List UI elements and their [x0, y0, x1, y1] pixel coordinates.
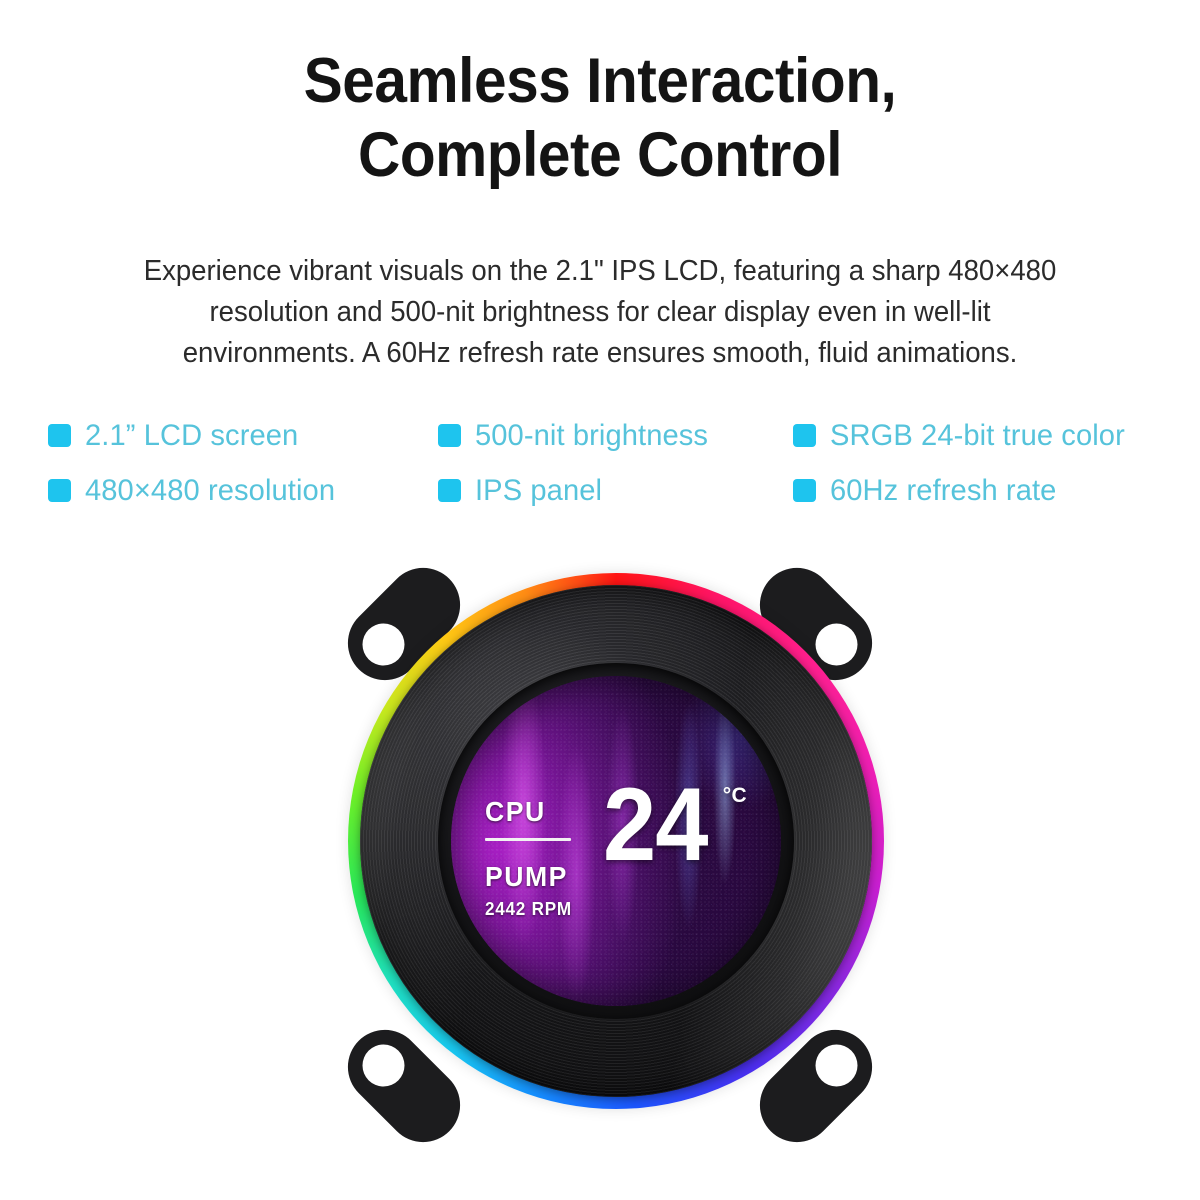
pump-body-disc: CPU PUMP 2442 RPM 24 °C	[360, 585, 872, 1097]
feature-label: IPS panel	[475, 474, 602, 508]
lcd-temperature-value: 24	[603, 780, 708, 872]
lcd-temperature-readout: 24 °C	[603, 780, 747, 872]
feature-spec-list: 2.1” LCD screen 500-nit brightness SRGB …	[48, 408, 1168, 518]
feature-item-true-color: SRGB 24-bit true color	[793, 419, 1168, 453]
page-title-line-1: Seamless Interaction,	[42, 44, 1158, 118]
feature-item-ips-panel: IPS panel	[438, 474, 793, 508]
feature-label: SRGB 24-bit true color	[830, 419, 1125, 453]
feature-label: 500-nit brightness	[475, 419, 708, 453]
feature-label: 480×480 resolution	[85, 474, 335, 508]
square-bullet-icon	[438, 479, 461, 502]
feature-label: 2.1” LCD screen	[85, 419, 298, 453]
lcd-pump-rpm-value: 2442 RPM	[485, 899, 572, 920]
aio-pump-block-image: CPU PUMP 2442 RPM 24 °C	[300, 545, 920, 1165]
square-bullet-icon	[48, 479, 71, 502]
lcd-stat-column: CPU PUMP 2442 RPM	[485, 798, 576, 920]
lcd-divider-rule	[485, 838, 571, 841]
feature-item-brightness: 500-nit brightness	[438, 419, 793, 453]
lcd-readout: CPU PUMP 2442 RPM 24 °C	[451, 676, 781, 1006]
feature-item-refresh-rate: 60Hz refresh rate	[793, 474, 1168, 508]
square-bullet-icon	[48, 424, 71, 447]
lcd-screen[interactable]: CPU PUMP 2442 RPM 24 °C	[451, 676, 781, 1006]
feature-item-resolution: 480×480 resolution	[48, 474, 438, 508]
feature-label: 60Hz refresh rate	[830, 474, 1056, 508]
feature-item-lcd-screen: 2.1” LCD screen	[48, 419, 438, 453]
square-bullet-icon	[793, 479, 816, 502]
lcd-pump-label: PUMP	[485, 863, 572, 891]
lcd-cpu-label: CPU	[485, 798, 572, 826]
page-title-line-2: Complete Control	[42, 118, 1158, 192]
lcd-temperature-unit: °C	[723, 784, 747, 808]
page-title: Seamless Interaction, Complete Control	[42, 44, 1158, 193]
square-bullet-icon	[793, 424, 816, 447]
square-bullet-icon	[438, 424, 461, 447]
lcd-bezel: CPU PUMP 2442 RPM 24 °C	[438, 663, 794, 1019]
product-description: Experience vibrant visuals on the 2.1" I…	[125, 251, 1075, 375]
